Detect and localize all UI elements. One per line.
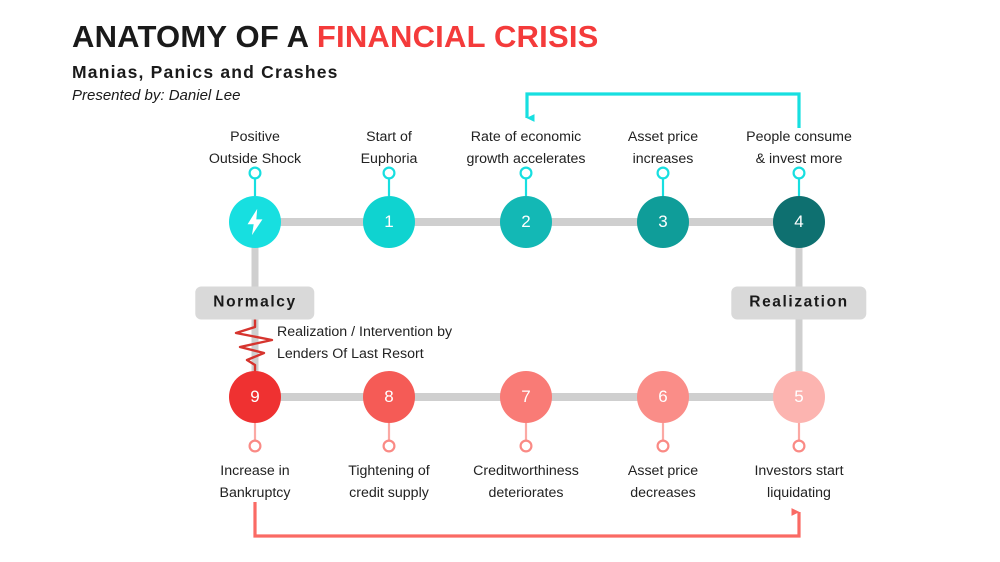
node-7[interactable]: 7 (500, 371, 552, 423)
node-8[interactable]: 8 (363, 371, 415, 423)
node-9[interactable]: 9 (229, 371, 281, 423)
step-label-line2: & invest more (704, 148, 894, 170)
top-row-markers (250, 168, 805, 196)
shock-bolt-icon (244, 208, 266, 236)
step-label-5: Investors start liquidating (704, 460, 894, 504)
phase-badge-realization[interactable]: Realization (731, 287, 866, 320)
node-4[interactable]: 4 (773, 196, 825, 248)
break-annotation-line2: Lenders Of Last Resort (277, 343, 452, 365)
title-block: ANATOMY OF A FINANCIAL CRISIS Manias, Pa… (72, 20, 872, 104)
break-annotation-line1: Realization / Intervention by (277, 321, 452, 343)
step-label-4: People consume & invest more (704, 126, 894, 170)
page-title-accent: FINANCIAL CRISIS (317, 19, 599, 54)
break-zigzag-icon (236, 318, 272, 375)
node-shock[interactable] (229, 196, 281, 248)
node-3[interactable]: 3 (637, 196, 689, 248)
node-5[interactable]: 5 (773, 371, 825, 423)
page-title-plain: ANATOMY OF A (72, 19, 317, 54)
step-label-line2: liquidating (704, 482, 894, 504)
infographic-canvas: ANATOMY OF A FINANCIAL CRISIS Manias, Pa… (0, 0, 1000, 562)
presenter-byline: Presented by: Daniel Lee (72, 87, 872, 104)
red-feedback-arrow (255, 502, 799, 536)
step-label-line1: People consume (704, 126, 894, 148)
phase-badge-normalcy[interactable]: Normalcy (195, 287, 314, 320)
node-6[interactable]: 6 (637, 371, 689, 423)
node-1[interactable]: 1 (363, 196, 415, 248)
page-subtitle: Manias, Panics and Crashes (72, 62, 872, 83)
page-title: ANATOMY OF A FINANCIAL CRISIS (72, 20, 872, 55)
bottom-row-markers (250, 423, 805, 451)
break-annotation: Realization / Intervention by Lenders Of… (277, 321, 452, 365)
node-2[interactable]: 2 (500, 196, 552, 248)
step-label-line1: Investors start (704, 460, 894, 482)
